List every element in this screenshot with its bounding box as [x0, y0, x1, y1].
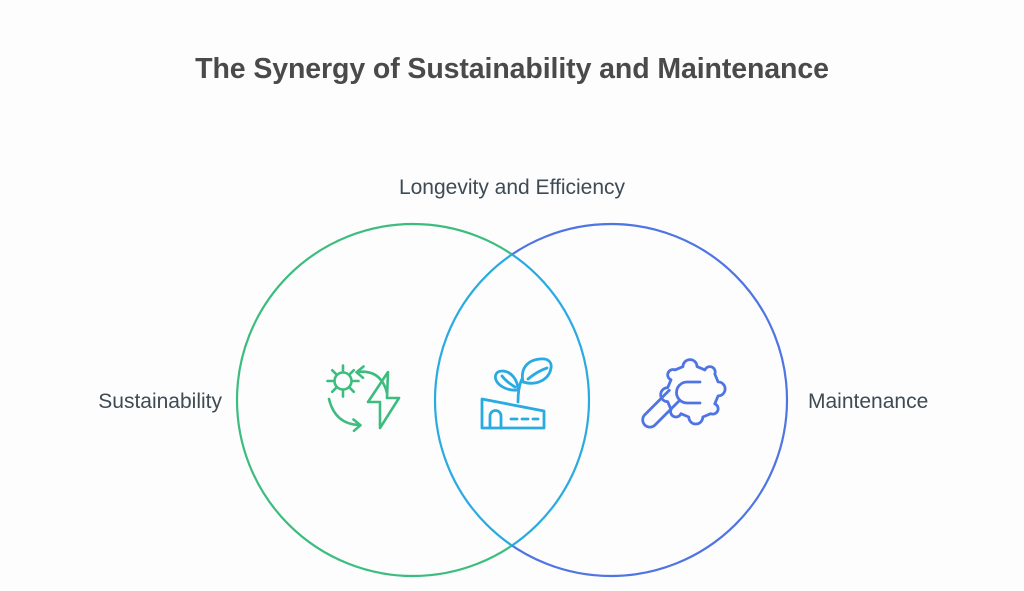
- venn-label-left: Sustainability: [0, 389, 222, 414]
- venn-circle-sustainability[interactable]: [237, 224, 589, 576]
- venn-label-right: Maintenance: [808, 389, 1024, 414]
- sun-disc: [335, 373, 352, 390]
- factory-sprout-icon: [482, 359, 551, 428]
- diagram-canvas: The Synergy of Sustainability and Mainte…: [0, 0, 1024, 591]
- factory-door: [490, 411, 501, 428]
- sun-ray: [332, 388, 336, 392]
- sun-ray: [350, 388, 354, 392]
- intersection-arc-left: [237, 224, 589, 576]
- lightning-bolt: [368, 372, 399, 428]
- wrench-gear-icon: [643, 360, 725, 428]
- sun-cycle-bolt-icon: [328, 366, 400, 431]
- venn-intersection-longevity-and-efficiency[interactable]: [237, 224, 787, 576]
- sprout-leaf-right-vein: [528, 368, 547, 379]
- sprout-leaf-right: [522, 359, 551, 383]
- venn-label-intersection: Longevity and Efficiency: [0, 175, 1024, 200]
- sun-ray: [350, 370, 354, 374]
- gear-outline: [661, 360, 725, 424]
- sustainability-circle-outline: [237, 224, 589, 576]
- venn-diagram: [0, 0, 1024, 591]
- sun-ray: [332, 370, 336, 374]
